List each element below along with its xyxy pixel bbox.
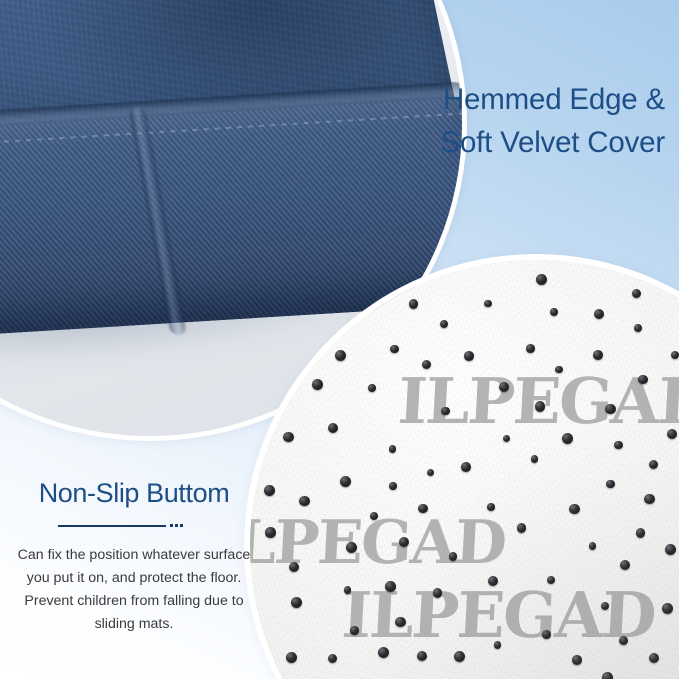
non-slip-mat-photo-circle: ILPEGAD ILPEGAD ILPEGAD [250,260,679,679]
anti-slip-dot [542,630,551,639]
anti-slip-dot [291,597,302,608]
anti-slip-dot [464,351,473,360]
anti-slip-dot [312,379,323,390]
anti-slip-dot [440,320,448,328]
divider [0,520,268,532]
brand-watermark: ILPEGAD [340,578,656,652]
brand-watermark: ILPEGAD [250,508,507,578]
anti-slip-dot [289,562,299,572]
anti-slip-dot [494,641,501,648]
anti-slip-dot [422,360,431,369]
anti-slip-dot [484,300,491,307]
anti-slip-dot [370,512,378,520]
feature-body: Can fix the position whatever surface yo… [0,544,268,636]
feature-title: Non-Slip Buttom [0,478,268,509]
anti-slip-dot [602,672,613,679]
non-slip-mat-photo: ILPEGAD ILPEGAD ILPEGAD [250,260,679,679]
anti-slip-dot [395,617,406,628]
feature-body-line: sliding mats. [12,613,256,636]
anti-slip-dot [619,636,628,645]
anti-slip-dot [594,309,604,319]
headline-line-1: Hemmed Edge & [440,78,665,121]
anti-slip-dot [409,299,418,308]
anti-slip-dot [593,350,603,360]
anti-slip-dot [328,423,339,434]
anti-slip-dot [299,496,310,507]
divider-dot [180,524,183,527]
feature-body-line: you put it on, and protect the floor. [12,567,256,590]
feature-body-line: Can fix the position whatever surface [12,544,256,567]
anti-slip-dot [634,324,642,332]
divider-dots [170,524,183,527]
anti-slip-dot [344,586,352,594]
anti-slip-dot [389,445,396,452]
anti-slip-dot [531,455,539,463]
anti-slip-dot [569,504,579,514]
anti-slip-dot [350,626,359,635]
anti-slip-dot [283,432,294,443]
anti-slip-dot [461,462,471,472]
anti-slip-dot [378,647,389,658]
anti-slip-dot [503,435,511,443]
anti-slip-dot [536,274,547,285]
anti-slip-dot [335,350,346,361]
anti-slip-dot [368,384,376,392]
anti-slip-dot [649,460,658,469]
anti-slip-dot [535,401,546,412]
anti-slip-dot [433,588,443,598]
anti-slip-dot [328,654,338,664]
headline: Hemmed Edge & Soft Velvet Cover [440,78,665,165]
anti-slip-dot [454,651,465,662]
anti-slip-dot [562,433,573,444]
anti-slip-dot [390,345,398,353]
anti-slip-dot [499,382,509,392]
anti-slip-dot [488,576,498,586]
anti-slip-dot [638,375,647,384]
anti-slip-dot [614,441,622,449]
anti-slip-dot [487,503,495,511]
anti-slip-dot [449,552,458,561]
anti-slip-dot [649,653,659,663]
anti-slip-dot [547,576,555,584]
anti-slip-dot [346,542,357,553]
anti-slip-dot [606,480,615,489]
anti-slip-dot [662,603,673,614]
feature-text-block: Non-Slip Buttom Can fix the position wha… [0,478,268,636]
anti-slip-dot [644,494,654,504]
anti-slip-dot [671,351,679,359]
headline-line-2: Soft Velvet Cover [440,121,665,164]
product-feature-graphic: Hemmed Edge & Soft Velvet Cover ILPEGAD … [0,0,679,679]
divider-dot [170,524,173,527]
anti-slip-dot [340,476,351,487]
anti-slip-dot [667,429,677,439]
anti-slip-dot [427,469,435,477]
anti-slip-dot [589,542,597,550]
anti-slip-dot [399,537,409,547]
anti-slip-dot [441,407,450,416]
anti-slip-dot [389,482,397,490]
anti-slip-dot [636,528,646,538]
anti-slip-dot [605,404,615,414]
anti-slip-dot [517,523,527,533]
anti-slip-dot [620,560,630,570]
anti-slip-dot [418,504,428,514]
divider-line [58,525,166,527]
divider-dot [175,524,178,527]
anti-slip-dot [550,308,558,316]
anti-slip-dot [665,544,676,555]
anti-slip-dot [601,602,609,610]
anti-slip-dot [526,344,535,353]
anti-slip-dot [417,651,427,661]
feature-body-line: Prevent children from falling due to [12,590,256,613]
anti-slip-dot [286,652,297,663]
anti-slip-dot [632,289,641,298]
anti-slip-dot [555,366,562,373]
anti-slip-dot [572,655,582,665]
brand-watermark: ILPEGAD [396,364,679,438]
anti-slip-dot [385,581,396,592]
